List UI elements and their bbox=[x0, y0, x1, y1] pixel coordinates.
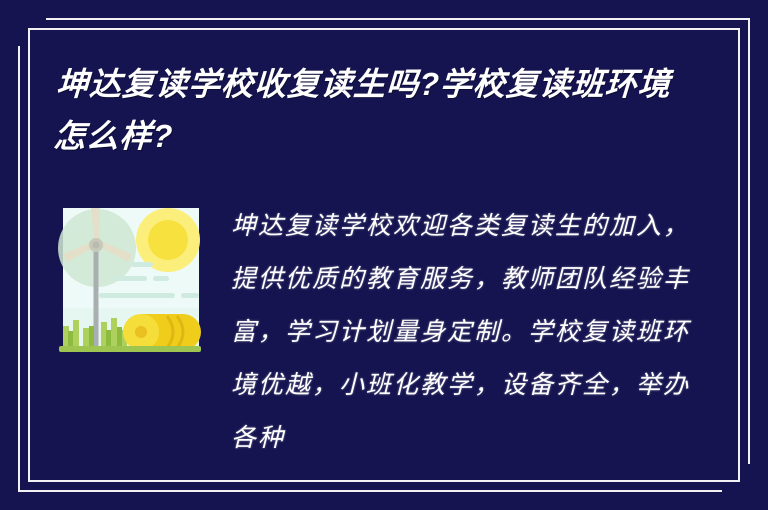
body-paragraph: 坤达复读学校欢迎各类复读生的加入，提供优质的教育服务，教师团队经验丰富，学习计划… bbox=[231, 200, 708, 465]
wind-turbine-farm-illustration bbox=[55, 200, 205, 360]
frame-corner-mask-bottom-right bbox=[722, 490, 768, 510]
frame-corner-mask-bottom-right-2 bbox=[748, 464, 768, 510]
poster-canvas: 坤达复读学校收复读生吗?学校复读班环境怎么样? bbox=[0, 0, 768, 510]
frame-corner-mask-top-left bbox=[0, 0, 46, 20]
frame-corner-mask-top-left-2 bbox=[0, 0, 20, 46]
page-title: 坤达复读学校收复读生吗?学校复读班环境怎么样? bbox=[52, 58, 677, 162]
content-row: 坤达复读学校欢迎各类复读生的加入，提供优质的教育服务，教师团队经验丰富，学习计划… bbox=[55, 200, 708, 465]
